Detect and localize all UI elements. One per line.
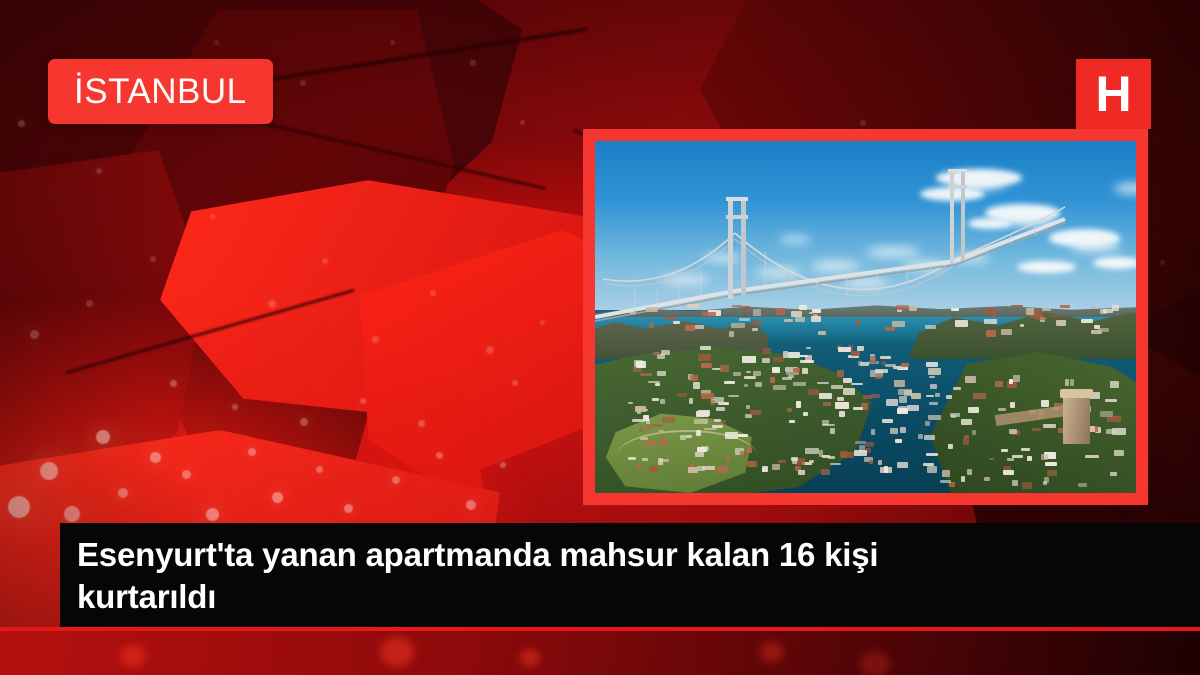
house-speckle: [773, 385, 786, 391]
house-speckle: [928, 368, 942, 375]
house-speckle: [636, 361, 647, 368]
house-speckle: [731, 323, 744, 329]
house-speckle: [805, 448, 818, 453]
house-speckle: [1110, 381, 1118, 388]
house-speckle: [742, 356, 756, 363]
house-speckle: [688, 467, 699, 472]
house-speckle: [784, 319, 793, 321]
house-speckle: [1110, 472, 1117, 476]
house-speckle: [783, 351, 788, 358]
house-speckle: [837, 397, 845, 401]
house-speckle: [798, 355, 808, 357]
house-speckle: [948, 444, 953, 449]
house-speckle: [1012, 455, 1023, 458]
house-speckle: [640, 437, 648, 441]
photo-fortress-tower-top: [1060, 389, 1092, 398]
house-speckle: [843, 388, 856, 395]
house-speckle: [875, 369, 888, 373]
house-speckle: [1041, 454, 1047, 460]
house-speckle: [733, 372, 740, 376]
house-speckle: [890, 428, 898, 434]
house-speckle: [925, 325, 935, 329]
house-speckle: [702, 312, 715, 316]
house-speckle: [1012, 480, 1018, 485]
house-speckle: [961, 476, 965, 482]
house-speckle: [1003, 470, 1014, 475]
house-speckle: [1001, 449, 1009, 452]
house-speckle: [955, 320, 968, 327]
house-speckle: [897, 462, 908, 468]
house-speckle: [812, 309, 820, 312]
house-speckle: [747, 461, 757, 467]
house-speckle: [646, 425, 652, 430]
house-speckle: [972, 430, 976, 435]
house-speckle: [909, 306, 918, 311]
house-speckle: [935, 393, 940, 397]
house-speckle: [640, 373, 652, 376]
house-speckle: [803, 412, 808, 416]
house-speckle: [857, 346, 864, 351]
house-speckle: [885, 327, 895, 331]
house-speckle: [863, 395, 873, 398]
house-speckle: [693, 382, 700, 389]
house-speckle: [817, 382, 829, 384]
house-speckle: [658, 458, 662, 465]
house-speckle: [1042, 308, 1051, 311]
house-speckle: [660, 399, 666, 404]
house-speckle: [1056, 320, 1066, 326]
house-speckle: [698, 410, 710, 416]
house-speckle: [789, 420, 796, 423]
house-speckle: [1009, 429, 1017, 434]
house-speckle: [1103, 309, 1112, 312]
house-speckle: [967, 469, 971, 475]
house-speckle: [995, 381, 1003, 387]
house-speckle: [818, 331, 826, 335]
house-speckle: [835, 402, 849, 408]
house-speckle: [680, 435, 685, 440]
house-speckle: [1027, 456, 1033, 461]
house-speckle: [894, 380, 905, 386]
house-speckle: [776, 308, 784, 315]
bottom-strip: [0, 631, 1200, 675]
house-speckle: [904, 390, 913, 396]
house-speckle: [1026, 308, 1035, 315]
house-speckle: [830, 428, 834, 434]
house-speckle: [961, 419, 971, 425]
headline-bar: Esenyurt'ta yanan apartmanda mahsur kala…: [60, 523, 1200, 627]
house-speckle: [855, 441, 867, 443]
house-speckle: [819, 393, 832, 399]
headline-text: Esenyurt'ta yanan apartmanda mahsur kala…: [60, 523, 997, 618]
house-speckle: [870, 356, 876, 363]
house-speckle: [793, 382, 806, 386]
house-speckle: [1047, 470, 1057, 477]
house-speckle: [965, 376, 976, 383]
house-speckle: [753, 309, 761, 316]
brand-logo: H: [1076, 59, 1151, 129]
house-speckle: [716, 407, 725, 411]
house-speckle: [695, 452, 704, 457]
house-speckle: [811, 316, 821, 322]
house-speckle: [700, 346, 711, 350]
house-speckle: [738, 434, 748, 438]
house-speckle: [755, 382, 762, 386]
house-speckle: [696, 430, 701, 436]
house-speckle: [986, 330, 995, 336]
house-speckle: [1043, 481, 1047, 485]
house-speckle: [793, 368, 801, 372]
house-speckle: [744, 376, 756, 379]
city-badge-label: İSTANBUL: [74, 74, 247, 109]
house-speckle: [869, 460, 873, 464]
house-speckle: [998, 408, 1006, 411]
house-speckle: [1100, 411, 1113, 417]
house-speckle: [687, 304, 700, 309]
house-speckle: [657, 371, 667, 376]
house-speckle: [659, 439, 668, 444]
house-speckle: [662, 417, 676, 423]
house-speckle: [690, 375, 698, 381]
house-speckle: [806, 347, 811, 349]
house-speckle: [886, 399, 898, 406]
house-speckle: [822, 455, 829, 458]
house-speckle: [929, 376, 935, 378]
house-speckle: [871, 429, 875, 435]
house-speckle: [928, 415, 941, 420]
house-speckle: [798, 470, 805, 475]
house-speckle: [821, 469, 830, 475]
house-speckle: [930, 384, 937, 389]
house-speckle: [1041, 400, 1049, 406]
house-speckle: [809, 460, 814, 463]
house-speckle: [746, 371, 751, 373]
house-speckle: [770, 377, 775, 383]
house-speckle: [694, 419, 708, 424]
house-speckle: [746, 405, 750, 408]
house-speckle: [800, 360, 813, 362]
house-speckle: [658, 430, 664, 433]
house-speckle: [628, 457, 635, 460]
house-speckle: [854, 450, 868, 456]
house-speckle: [831, 385, 843, 389]
house-speckle: [646, 307, 659, 312]
house-speckle: [897, 408, 908, 413]
house-speckle: [729, 331, 735, 338]
house-speckle: [752, 320, 763, 325]
news-card: İSTANBUL H: [0, 0, 1200, 675]
news-photo: [595, 141, 1136, 493]
house-speckle: [1065, 379, 1069, 386]
house-speckle: [1011, 305, 1023, 308]
house-speckle: [926, 453, 938, 456]
house-speckle: [802, 368, 808, 374]
house-speckle: [927, 466, 937, 472]
house-speckle: [637, 464, 641, 469]
house-speckle: [929, 402, 937, 404]
house-speckle: [772, 367, 780, 373]
house-speckle: [1043, 424, 1057, 429]
house-speckle: [747, 447, 751, 453]
house-speckle: [882, 419, 893, 423]
photo-fortress-tower: [1063, 394, 1090, 443]
house-speckle: [1021, 448, 1030, 451]
house-speckle: [946, 395, 952, 399]
house-speckle: [763, 348, 771, 355]
house-speckle: [1098, 328, 1109, 333]
house-speckle: [940, 480, 952, 483]
house-speckle: [880, 356, 891, 360]
house-speckle: [986, 308, 995, 314]
house-speckle: [1070, 379, 1074, 386]
house-speckle: [744, 384, 749, 387]
house-speckle: [951, 308, 959, 311]
house-speckle: [799, 305, 807, 310]
house-speckle: [840, 451, 848, 457]
house-speckle: [1013, 375, 1020, 381]
house-speckle: [1078, 483, 1087, 488]
house-speckle: [762, 468, 767, 472]
house-speckle: [865, 442, 874, 448]
house-speckle: [896, 305, 909, 310]
house-speckle: [1060, 305, 1070, 308]
house-speckle: [704, 428, 718, 430]
house-speckle: [1085, 455, 1099, 457]
house-speckle: [642, 458, 648, 461]
house-speckle: [953, 387, 961, 390]
house-speckle: [839, 411, 845, 416]
house-speckle: [808, 389, 820, 395]
house-speckle: [837, 370, 843, 377]
house-speckle: [907, 405, 920, 411]
house-speckle: [823, 402, 831, 407]
house-speckle: [1032, 428, 1041, 431]
city-badge: İSTANBUL: [48, 59, 273, 124]
house-speckle: [1007, 458, 1014, 461]
house-speckle: [646, 419, 651, 424]
house-speckle: [650, 424, 663, 427]
house-speckle: [925, 421, 930, 426]
house-speckle: [875, 374, 882, 379]
house-speckle: [895, 439, 902, 442]
house-speckle: [673, 321, 680, 324]
house-speckle: [950, 413, 961, 418]
house-speckle: [753, 371, 760, 376]
house-speckle: [924, 435, 935, 439]
house-speckle: [686, 435, 692, 438]
house-speckle: [714, 419, 721, 423]
house-speckle: [649, 322, 654, 327]
house-speckle: [851, 383, 863, 385]
house-speckle: [732, 305, 743, 307]
house-speckle: [637, 408, 641, 414]
house-speckle: [1112, 305, 1119, 312]
house-speckle: [860, 362, 869, 366]
house-speckle: [639, 428, 643, 432]
house-speckle: [649, 466, 659, 472]
house-speckle: [773, 357, 783, 362]
house-speckle: [782, 377, 792, 380]
house-speckle: [645, 441, 657, 446]
house-speckle: [1010, 402, 1015, 407]
house-speckle: [942, 470, 949, 477]
house-speckle: [739, 318, 750, 321]
house-speckle: [710, 400, 715, 405]
house-speckle: [963, 438, 968, 445]
house-speckle: [653, 352, 660, 355]
house-speckle: [923, 463, 934, 466]
house-speckle: [1001, 329, 1012, 336]
house-speckle: [856, 320, 860, 325]
house-speckle: [911, 393, 921, 399]
house-speckle: [1045, 462, 1057, 466]
house-speckle: [762, 358, 771, 363]
house-speckle: [701, 393, 714, 399]
house-speckle: [717, 466, 728, 472]
house-speckle: [689, 398, 693, 405]
house-speckle: [720, 365, 729, 372]
house-speckle: [697, 447, 706, 452]
house-speckle: [830, 463, 841, 466]
house-speckle: [968, 407, 979, 413]
house-speckle: [685, 325, 694, 332]
house-speckle: [750, 410, 761, 416]
house-speckle: [725, 432, 738, 439]
house-speckle: [743, 306, 750, 312]
house-speckle: [1105, 399, 1116, 403]
house-speckle: [1022, 482, 1032, 489]
house-speckle: [1091, 306, 1096, 309]
house-speckle: [918, 434, 923, 439]
house-speckle: [787, 408, 792, 411]
house-speckle: [1009, 379, 1013, 385]
house-speckle: [664, 317, 677, 320]
house-speckle: [1094, 325, 1100, 329]
house-speckle: [926, 395, 934, 397]
house-speckle: [778, 460, 786, 463]
house-speckle: [698, 354, 711, 361]
house-speckle: [853, 407, 863, 410]
house-speckle: [740, 451, 746, 456]
house-speckle: [989, 458, 994, 460]
house-speckle: [1020, 324, 1024, 327]
house-speckle: [796, 401, 801, 408]
house-speckle: [632, 419, 645, 422]
house-speckle: [724, 381, 735, 384]
house-speckle: [899, 396, 907, 403]
house-speckle: [701, 363, 712, 368]
house-speckle: [795, 317, 804, 322]
house-speckle: [901, 363, 909, 367]
house-speckle: [851, 351, 860, 356]
house-speckle: [677, 393, 687, 397]
house-speckle: [1034, 317, 1047, 320]
house-speckle: [702, 466, 716, 469]
house-speckle: [728, 395, 739, 397]
house-speckle: [1048, 315, 1062, 317]
logo-h-icon: H: [1095, 69, 1131, 119]
house-speckle: [984, 477, 990, 481]
house-speckle: [973, 393, 985, 399]
house-speckle: [926, 362, 939, 367]
house-speckle: [884, 466, 888, 473]
house-speckle: [1081, 319, 1092, 323]
house-speckle: [726, 456, 730, 461]
house-speckle: [772, 464, 780, 470]
house-speckle: [1114, 450, 1124, 457]
house-speckle: [878, 460, 882, 465]
house-speckle: [791, 457, 798, 461]
house-speckle: [752, 328, 759, 331]
house-speckle: [655, 383, 661, 386]
house-speckle: [1106, 429, 1116, 434]
house-speckle: [984, 319, 997, 324]
house-speckle: [661, 350, 670, 355]
house-speckle: [838, 347, 851, 352]
house-speckle: [900, 427, 905, 432]
news-photo-frame: [583, 129, 1148, 505]
house-speckle: [791, 311, 803, 316]
house-speckle: [652, 398, 659, 401]
